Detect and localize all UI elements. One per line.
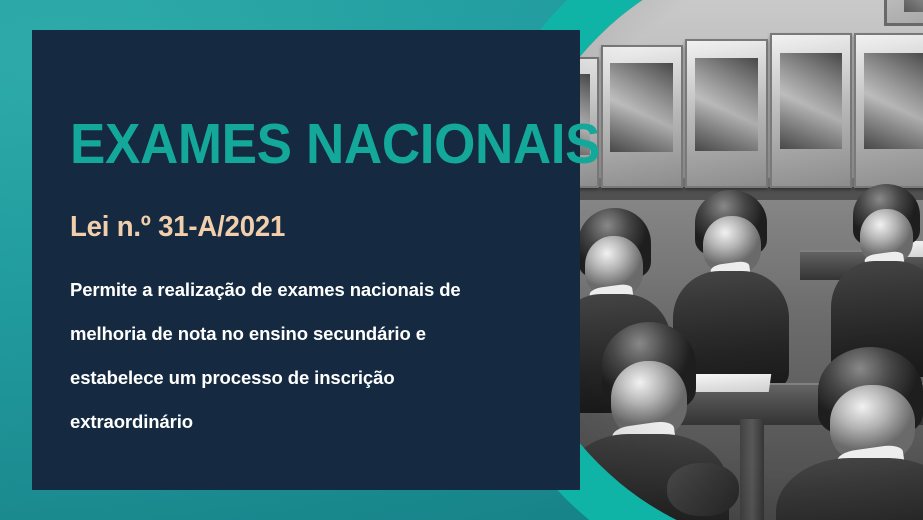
poster-canvas: EXAMES NACIONAIS Lei n.º 31-A/2021 Permi… (0, 0, 923, 520)
text-panel: EXAMES NACIONAIS Lei n.º 31-A/2021 Permi… (32, 30, 580, 490)
description-line: estabelece um processo de inscrição (70, 356, 540, 400)
law-reference: Lei n.º 31-A/2021 (70, 212, 285, 242)
description-text: Permite a realização de exames nacionais… (70, 268, 540, 444)
text-panel-content: EXAMES NACIONAIS Lei n.º 31-A/2021 Permi… (70, 30, 580, 490)
description-line: melhoria de nota no ensino secundário e (70, 312, 540, 356)
description-line: extraordinário (70, 400, 540, 444)
page-title: EXAMES NACIONAIS (70, 116, 600, 173)
description-line: Permite a realização de exames nacionais… (70, 268, 540, 312)
